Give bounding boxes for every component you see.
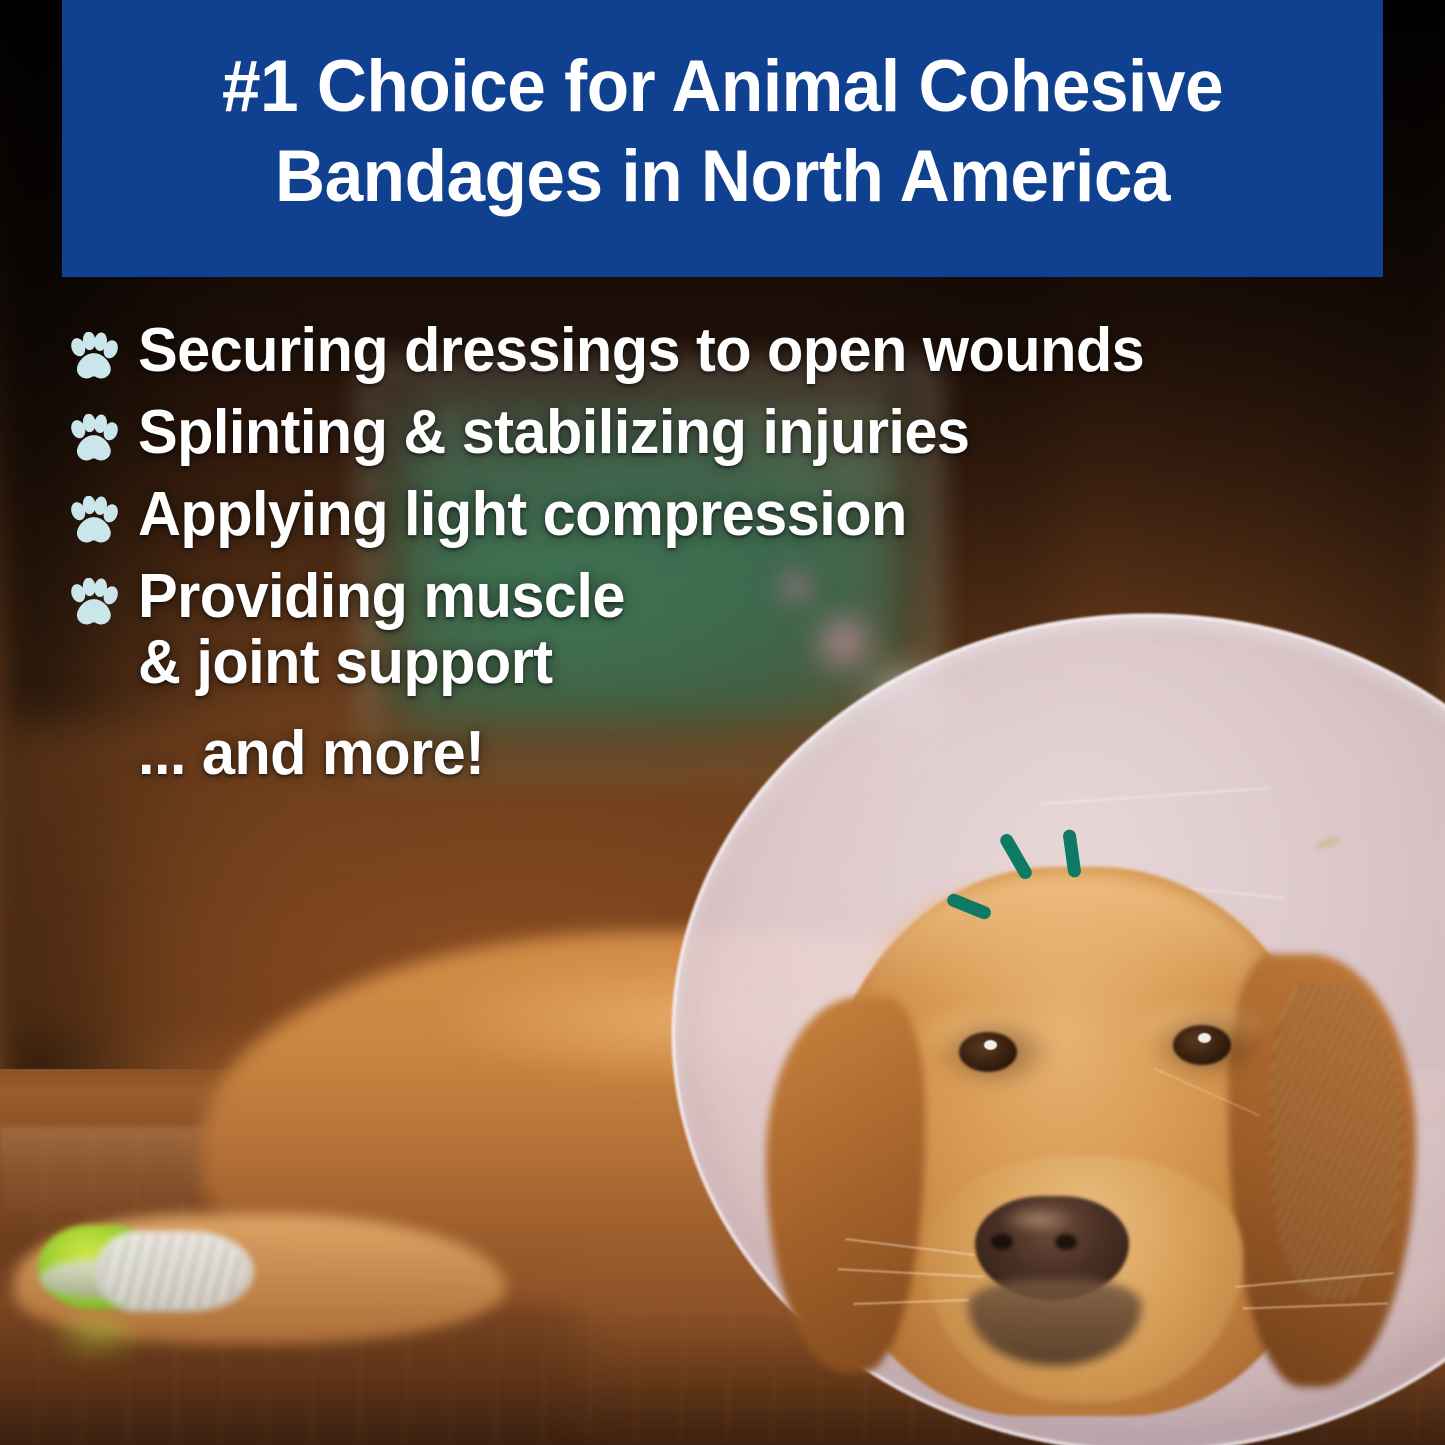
dog-eye-left xyxy=(959,1032,1017,1072)
dog-ear-left xyxy=(766,997,925,1373)
list-item-label: Providing muscle & joint support xyxy=(138,564,625,695)
headline-title: #1 Choice for Animal Cohesive Bandages i… xyxy=(122,42,1324,220)
and-more-label: ... and more! xyxy=(138,721,1374,787)
dog-eye-right xyxy=(1173,1025,1231,1065)
headline-banner: #1 Choice for Animal Cohesive Bandages i… xyxy=(62,0,1383,277)
paw-print-icon xyxy=(66,578,120,632)
list-item-label: Applying light compression xyxy=(138,482,907,548)
list-item: Securing dressings to open wounds xyxy=(66,318,1425,386)
promo-image: #1 Choice for Animal Cohesive Bandages i… xyxy=(0,0,1445,1445)
dog-ear-fur-texture xyxy=(1272,983,1402,1301)
list-item: Applying light compression xyxy=(66,482,1425,550)
paw-print-icon xyxy=(66,332,120,386)
toy-floor-reflection xyxy=(46,1305,147,1363)
dog-nostril-right xyxy=(1055,1234,1077,1250)
list-item-label: Securing dressings to open wounds xyxy=(138,318,1144,384)
paw-print-icon xyxy=(66,414,120,468)
dog-nose-highlight xyxy=(1000,1205,1075,1234)
benefits-list: Securing dressings to open wounds Splint… xyxy=(66,318,1425,787)
list-item-label: Splinting & stabilizing injuries xyxy=(138,400,969,466)
paw-print-icon xyxy=(66,496,120,550)
list-item: Splinting & stabilizing injuries xyxy=(66,400,1425,468)
bandage-wrap-texture xyxy=(104,1234,243,1308)
list-item: Providing muscle & joint support xyxy=(66,564,1425,695)
